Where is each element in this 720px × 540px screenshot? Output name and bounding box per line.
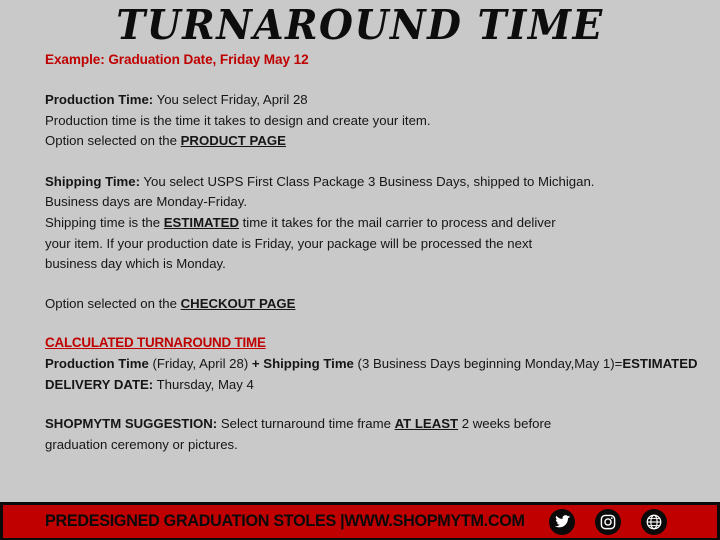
production-time-value: You select Friday, April 28 xyxy=(153,92,307,107)
production-time-description: Production time is the time it takes to … xyxy=(45,111,705,132)
instagram-icon[interactable] xyxy=(595,509,621,535)
checkout-option-line: Option selected on the CHECKOUT PAGE xyxy=(45,294,705,315)
slide-body: Example: Graduation Date, Friday May 12 … xyxy=(45,50,705,455)
shipping-time-line-5: business day which is Monday. xyxy=(45,254,705,275)
footer-social-icons xyxy=(549,509,667,535)
shipping-time-heading: Shipping Time: xyxy=(45,174,140,189)
shipping-time-line-1: Shipping Time: You select USPS First Cla… xyxy=(45,172,705,193)
example-line: Example: Graduation Date, Friday May 12 xyxy=(45,50,705,70)
spacer xyxy=(45,395,705,414)
formula-continuation: May 1)= xyxy=(574,356,622,371)
spacer xyxy=(45,275,705,294)
suggestion-text-end: 2 weeks before xyxy=(458,416,551,431)
calculated-turnaround-section: CALCULATED TURNAROUND TIME Production Ti… xyxy=(45,333,705,395)
estimated-delivery-date-value: Thursday, May 4 xyxy=(153,377,254,392)
spacer xyxy=(45,70,705,90)
globe-icon[interactable] xyxy=(641,509,667,535)
production-option-prefix: Option selected on the xyxy=(45,133,181,148)
production-time-section: Production Time: You select Friday, Apri… xyxy=(45,90,705,152)
formula-shipping-time: + Shipping Time xyxy=(252,356,354,371)
spacer xyxy=(45,314,705,333)
shipping-time-section: Shipping Time: You select USPS First Cla… xyxy=(45,172,705,275)
business-days-note: Business days are Monday-Friday. xyxy=(45,192,705,213)
page-title: TURNAROUND TIME xyxy=(0,2,720,49)
calculated-turnaround-heading: CALCULATED TURNAROUND TIME xyxy=(45,333,705,354)
footer-website-text: PREDESIGNED GRADUATION STOLES |WWW.SHOPM… xyxy=(45,512,525,531)
production-time-heading: Production Time: xyxy=(45,92,153,107)
formula-production-time: Production Time xyxy=(45,356,149,371)
calculated-turnaround-formula: Production Time (Friday, April 28) + Shi… xyxy=(45,354,705,395)
product-page-emphasis: PRODUCT PAGE xyxy=(181,133,286,148)
production-time-line-1: Production Time: You select Friday, Apri… xyxy=(45,90,705,111)
shipping-time-value: You select USPS First Class Package 3 Bu… xyxy=(140,174,594,189)
shipping-estimate-suffix: time it takes for the mail carrier to pr… xyxy=(239,215,556,230)
checkout-page-emphasis: CHECKOUT PAGE xyxy=(181,296,296,311)
shipping-estimate-prefix: Shipping time is the xyxy=(45,215,164,230)
slide-canvas: TURNAROUND TIME Example: Graduation Date… xyxy=(0,0,720,540)
suggestion-line-1: SHOPMYTM SUGGESTION: Select turnaround t… xyxy=(45,414,705,435)
production-time-option-line: Option selected on the PRODUCT PAGE xyxy=(45,131,705,152)
at-least-emphasis: AT LEAST xyxy=(395,416,459,431)
checkout-option-prefix: Option selected on the xyxy=(45,296,181,311)
formula-production-date: (Friday, April 28) xyxy=(149,356,252,371)
footer-bar: PREDESIGNED GRADUATION STOLES |WWW.SHOPM… xyxy=(0,502,720,540)
twitter-icon[interactable] xyxy=(549,509,575,535)
estimated-emphasis: ESTIMATED xyxy=(164,215,239,230)
formula-shipping-detail: (3 Business Days beginning Monday, xyxy=(354,356,574,371)
suggestion-line-2: graduation ceremony or pictures. xyxy=(45,435,705,456)
shipping-time-line-4: your item. If your production date is Fr… xyxy=(45,234,705,255)
spacer xyxy=(45,152,705,172)
shopmytm-suggestion-section: SHOPMYTM SUGGESTION: Select turnaround t… xyxy=(45,414,705,455)
suggestion-text-mid: Select turnaround time frame xyxy=(217,416,394,431)
shipping-time-estimate-line: Shipping time is the ESTIMATED time it t… xyxy=(45,213,705,234)
suggestion-heading: SHOPMYTM SUGGESTION: xyxy=(45,416,217,431)
